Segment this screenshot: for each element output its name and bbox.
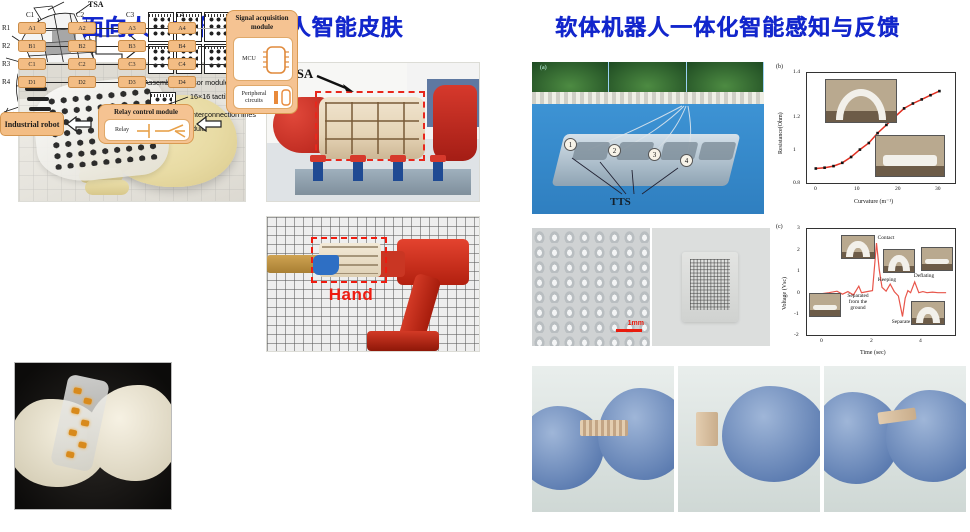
chart2-ylabel: Voltage (Vsc) <box>782 277 788 310</box>
cell-c2[interactable]: C2 <box>68 58 96 70</box>
chart2-annotation-keeping: Keeping <box>873 277 901 283</box>
photo-stretch-frame-1 <box>532 366 674 512</box>
chart2-inset-2 <box>883 249 915 273</box>
chart2-inset-3 <box>921 247 953 271</box>
chart1-plot-area <box>806 72 956 184</box>
row-header-r3: R3 <box>2 60 10 68</box>
col-header-c3: C3 <box>126 11 134 19</box>
chart2-ytick-4: 2 <box>797 247 800 253</box>
chart1-ytick-3: 1.4 <box>793 69 800 75</box>
tsa-highlight-box <box>315 91 425 161</box>
photo-robot-gripper-hand: Hand <box>266 216 480 352</box>
cell-a4[interactable]: A4 <box>168 22 196 34</box>
cell-d3[interactable]: D3 <box>118 76 146 88</box>
tts-leader-lines <box>566 154 696 204</box>
chart1-xlabel: Curvature (m⁻¹) <box>854 198 893 205</box>
cell-a1[interactable]: A1 <box>18 22 46 34</box>
arrow-relay-to-robot-icon <box>66 116 92 132</box>
chart2-annotation-deflating: Deflating <box>909 273 939 279</box>
chart2-annotation-separated: Separated from the ground <box>843 293 873 311</box>
chart2-ytick-1: -1 <box>794 311 799 317</box>
row-header-r2: R2 <box>2 42 10 50</box>
chart2-annotation-contact: Contact <box>869 235 903 241</box>
chart1-xtick-1: 10 <box>854 186 860 192</box>
chart-voltage-vs-time: (c) Contact Keeping Deflating Separated … <box>776 222 966 366</box>
circuit-icon <box>272 89 292 107</box>
chart2-ytick-0: -2 <box>794 332 799 338</box>
cell-b2[interactable]: B2 <box>68 40 96 52</box>
row-header-r1: R1 <box>2 24 10 32</box>
chart1-xtick-3: 30 <box>935 186 941 192</box>
cell-d1[interactable]: D1 <box>18 76 46 88</box>
diagram-title-tsa: TSA <box>88 0 104 9</box>
photo-soft-actuator-tts: (a) 1 2 3 4 TTS <box>532 62 764 214</box>
tts-label: TTS <box>610 196 631 208</box>
slide-root: 面向人机协作的机器人智能皮肤 <box>0 0 970 532</box>
photo-stretch-frame-3 <box>824 366 966 512</box>
chart2-xlabel: Time (sec) <box>860 350 886 356</box>
cell-c1[interactable]: C1 <box>18 58 46 70</box>
cell-d4[interactable]: D4 <box>168 76 196 88</box>
chart2-xtick-2: 4 <box>919 338 922 344</box>
relay-label: Relay <box>111 127 133 134</box>
chart2-annotation-separate: Separate <box>887 319 915 325</box>
chart2-inset-4 <box>809 293 841 317</box>
chart2-tag: (c) <box>776 224 783 230</box>
cell-a3[interactable]: A3 <box>118 22 146 34</box>
chart2-ytick-3: 1 <box>797 268 800 274</box>
photo-sensor-patch <box>652 228 770 346</box>
hand-highlight-box <box>311 237 387 283</box>
left-column: 面向人机协作的机器人智能皮肤 <box>0 0 485 532</box>
industrial-robot-block[interactable]: Industrial robot <box>0 112 64 136</box>
scale-bar-label: 1mm <box>628 320 644 327</box>
peripheral-circuits-box: Peripheral circuits <box>233 85 293 109</box>
mcu-box: MCU <box>233 37 293 81</box>
col-header-c2: C2 <box>76 11 84 19</box>
chart-resistance-vs-curvature: (b) Resistance(Ohm) Curvature (m⁻¹) 0.8 … <box>776 62 966 214</box>
cell-c4[interactable]: C4 <box>168 58 196 70</box>
cell-c3[interactable]: C3 <box>118 58 146 70</box>
actuator-marker-1: 1 <box>564 138 577 151</box>
photo-stretch-frame-2 <box>678 366 820 512</box>
scale-bar <box>616 329 642 332</box>
photo-flexible-sensor-bending <box>14 362 172 510</box>
photo-micropyramid-array: 1mm <box>532 228 650 346</box>
chart2-inset-5 <box>911 301 945 325</box>
hand-annotation-label: Hand <box>313 285 389 305</box>
chart1-ytick-1: 1 <box>793 147 796 153</box>
cell-d2[interactable]: D2 <box>68 76 96 88</box>
chart1-inset-flat <box>875 135 945 177</box>
cell-b4[interactable]: B4 <box>168 40 196 52</box>
signal-acquisition-module[interactable]: Signal acquisition module MCU Pe <box>226 10 298 114</box>
chart1-ylabel: Resistance(Ohm) <box>778 112 784 154</box>
chart1-xtick-0: 0 <box>814 186 817 192</box>
photo-robot-tsa <box>266 62 480 202</box>
arrow-acquisition-to-relay-icon <box>196 116 222 132</box>
chart1-ytick-2: 1.2 <box>793 114 800 120</box>
chart1-inset-bent <box>825 79 897 123</box>
peripheral-circuits-label: Peripheral circuits <box>237 91 271 105</box>
mcu-chip-icon <box>262 44 290 76</box>
col-header-c1: C1 <box>26 11 34 19</box>
right-panel-title: 软体机器人一体化智能感知与反馈 <box>485 10 970 42</box>
chart2-ytick-2: 0 <box>797 290 800 296</box>
chart1-tag: (b) <box>776 64 783 70</box>
cell-b1[interactable]: B1 <box>18 40 46 52</box>
relay-control-module-label: Relay control module <box>99 108 193 117</box>
chart2-ytick-5: 3 <box>797 225 800 231</box>
col-header-c4: C4 <box>176 11 184 19</box>
relay-control-module[interactable]: Relay control module Relay <box>98 104 194 144</box>
chart2-xtick-0: 0 <box>820 338 823 344</box>
chart1-ytick-0: 0.8 <box>793 180 800 186</box>
row-header-r4: R4 <box>2 78 10 86</box>
subfigure-marker-a: (a) <box>540 65 547 71</box>
cell-b3[interactable]: B3 <box>118 40 146 52</box>
industrial-robot-label: Industrial robot <box>5 120 60 129</box>
relay-switch-icon <box>135 122 187 140</box>
chart2-xtick-1: 2 <box>870 338 873 344</box>
chart1-xtick-2: 20 <box>895 186 901 192</box>
signal-acquisition-module-label: Signal acquisition module <box>227 14 297 32</box>
mcu-label: MCU <box>238 56 260 63</box>
tsa-arrow-icon <box>316 74 356 92</box>
chart2-plot-area: Contact Keeping Deflating Separated from… <box>806 228 956 336</box>
relay-box: Relay <box>104 119 190 141</box>
cell-a2[interactable]: A2 <box>68 22 96 34</box>
